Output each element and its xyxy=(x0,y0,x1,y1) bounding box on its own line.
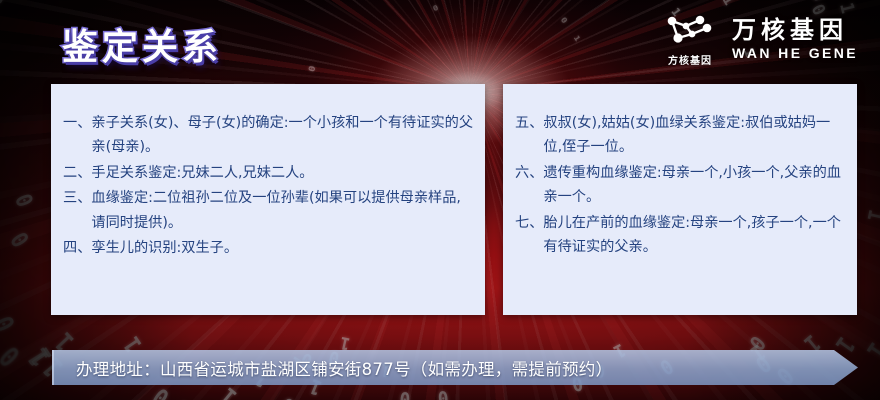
relationship-list-left: 一、亲子关系(女)、母子(女)的确定:一个小孩和一个有待证实的父亲(母亲)。二、… xyxy=(63,111,473,261)
list-item: 七、胎儿在产前的血缘鉴定:母亲一个,孩子一个,一个有待证实的父亲。 xyxy=(515,211,845,260)
brand-logo: 方核基因 万核基因 WAN HE GENE xyxy=(662,12,858,67)
slide-root: 1110101000000010010110101111010111011001… xyxy=(0,0,880,400)
list-item-number: 三、 xyxy=(63,186,91,210)
relationship-list-right: 五、叔叔(女),姑姑(女)血绿关系鉴定:叔伯或姑妈一位,侄子一位。六、遗传重构血… xyxy=(515,111,845,260)
list-item-number: 五、 xyxy=(515,111,543,135)
address-bar: 办理地址：山西省运城市盐湖区铺安街877号（如需办理，需提前预约） xyxy=(52,350,858,385)
list-item: 六、遗传重构血缘鉴定:母亲一个,小孩一个,父亲的血亲一个。 xyxy=(515,161,845,210)
list-item-text: 亲子关系(女)、母子(女)的确定:一个小孩和一个有待证实的父亲(母亲)。 xyxy=(91,111,473,160)
address-text: 办理地址：山西省运城市盐湖区铺安街877号（如需办理，需提前预约） xyxy=(76,350,612,385)
list-item: 三、血缘鉴定:二位祖孙二位及一位孙辈(如果可以提供母亲样品,请同时提供)。 xyxy=(63,186,473,235)
list-item-text: 血缘鉴定:二位祖孙二位及一位孙辈(如果可以提供母亲样品,请同时提供)。 xyxy=(91,186,473,235)
logo-mark: 方核基因 xyxy=(662,12,718,67)
list-item: 五、叔叔(女),姑姑(女)血绿关系鉴定:叔伯或姑妈一位,侄子一位。 xyxy=(515,111,845,160)
brand-name-cn: 万核基因 xyxy=(732,18,858,43)
list-item: 一、亲子关系(女)、母子(女)的确定:一个小孩和一个有待证实的父亲(母亲)。 xyxy=(63,111,473,160)
list-item-number: 二、 xyxy=(63,161,91,185)
panel-left: 一、亲子关系(女)、母子(女)的确定:一个小孩和一个有待证实的父亲(母亲)。二、… xyxy=(51,84,485,315)
molecule-icon xyxy=(662,12,718,50)
list-item-text: 叔叔(女),姑姑(女)血绿关系鉴定:叔伯或姑妈一位,侄子一位。 xyxy=(543,111,845,160)
brand-wordmark: 万核基因 WAN HE GENE xyxy=(732,18,858,61)
logo-mark-label: 方核基因 xyxy=(668,52,712,67)
list-item-number: 四、 xyxy=(63,236,91,260)
list-item-text: 孪生儿的识别:双生子。 xyxy=(91,236,473,260)
list-item-text: 遗传重构血缘鉴定:母亲一个,小孩一个,父亲的血亲一个。 xyxy=(543,161,845,210)
brand-name-en: WAN HE GENE xyxy=(732,45,858,61)
list-item-number: 七、 xyxy=(515,211,543,235)
panel-right: 五、叔叔(女),姑姑(女)血绿关系鉴定:叔伯或姑妈一位,侄子一位。六、遗传重构血… xyxy=(503,84,857,315)
list-item-text: 胎儿在产前的血缘鉴定:母亲一个,孩子一个,一个有待证实的父亲。 xyxy=(543,211,845,260)
list-item-text: 手足关系鉴定:兄妹二人,兄妹二人。 xyxy=(91,161,473,185)
list-item: 四、孪生儿的识别:双生子。 xyxy=(63,236,473,260)
list-item: 二、手足关系鉴定:兄妹二人,兄妹二人。 xyxy=(63,161,473,185)
list-item-number: 六、 xyxy=(515,161,543,185)
page-title: 鉴定关系 xyxy=(62,18,222,70)
list-item-number: 一、 xyxy=(63,111,91,135)
